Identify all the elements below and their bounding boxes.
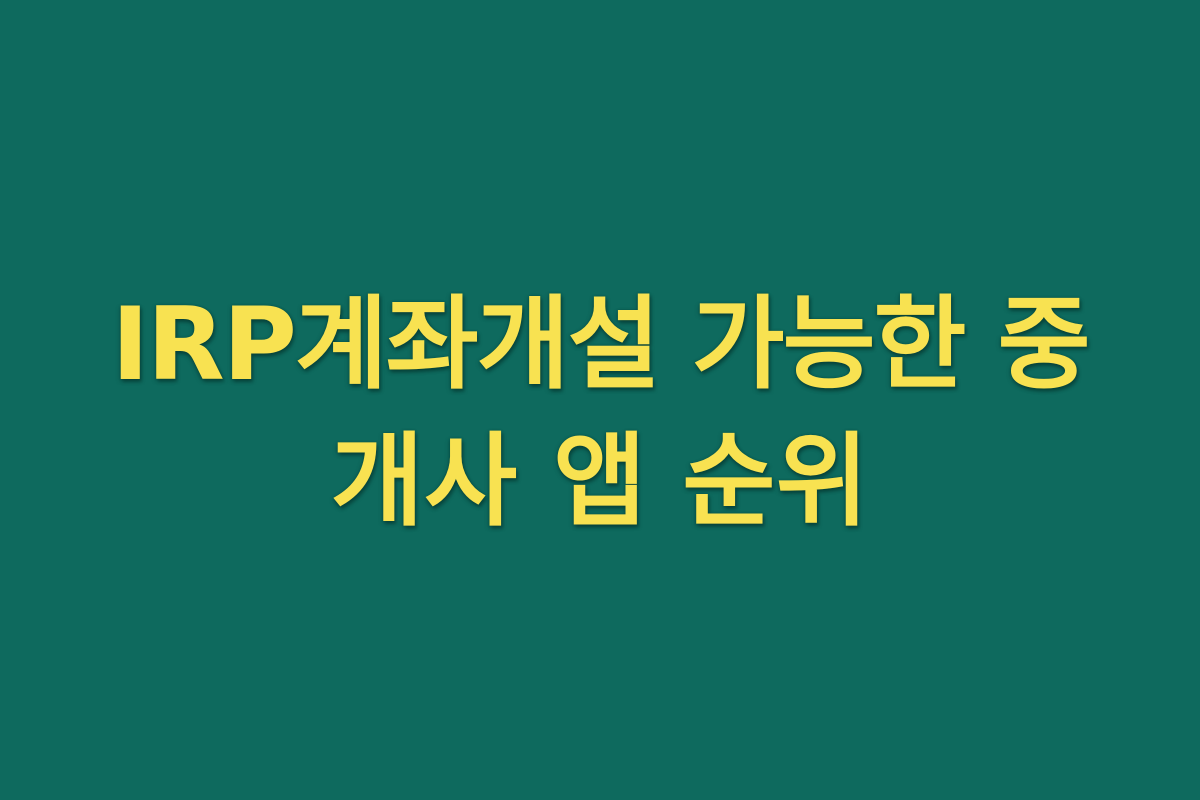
banner-canvas: IRP계좌개설 가능한 중 개사 앱 순위 [0,0,1200,800]
headline-line-1: IRP계좌개설 가능한 중 [0,276,1200,413]
headline-block: IRP계좌개설 가능한 중 개사 앱 순위 [0,0,1200,550]
headline-line-2: 개사 앱 순위 [0,413,1200,550]
